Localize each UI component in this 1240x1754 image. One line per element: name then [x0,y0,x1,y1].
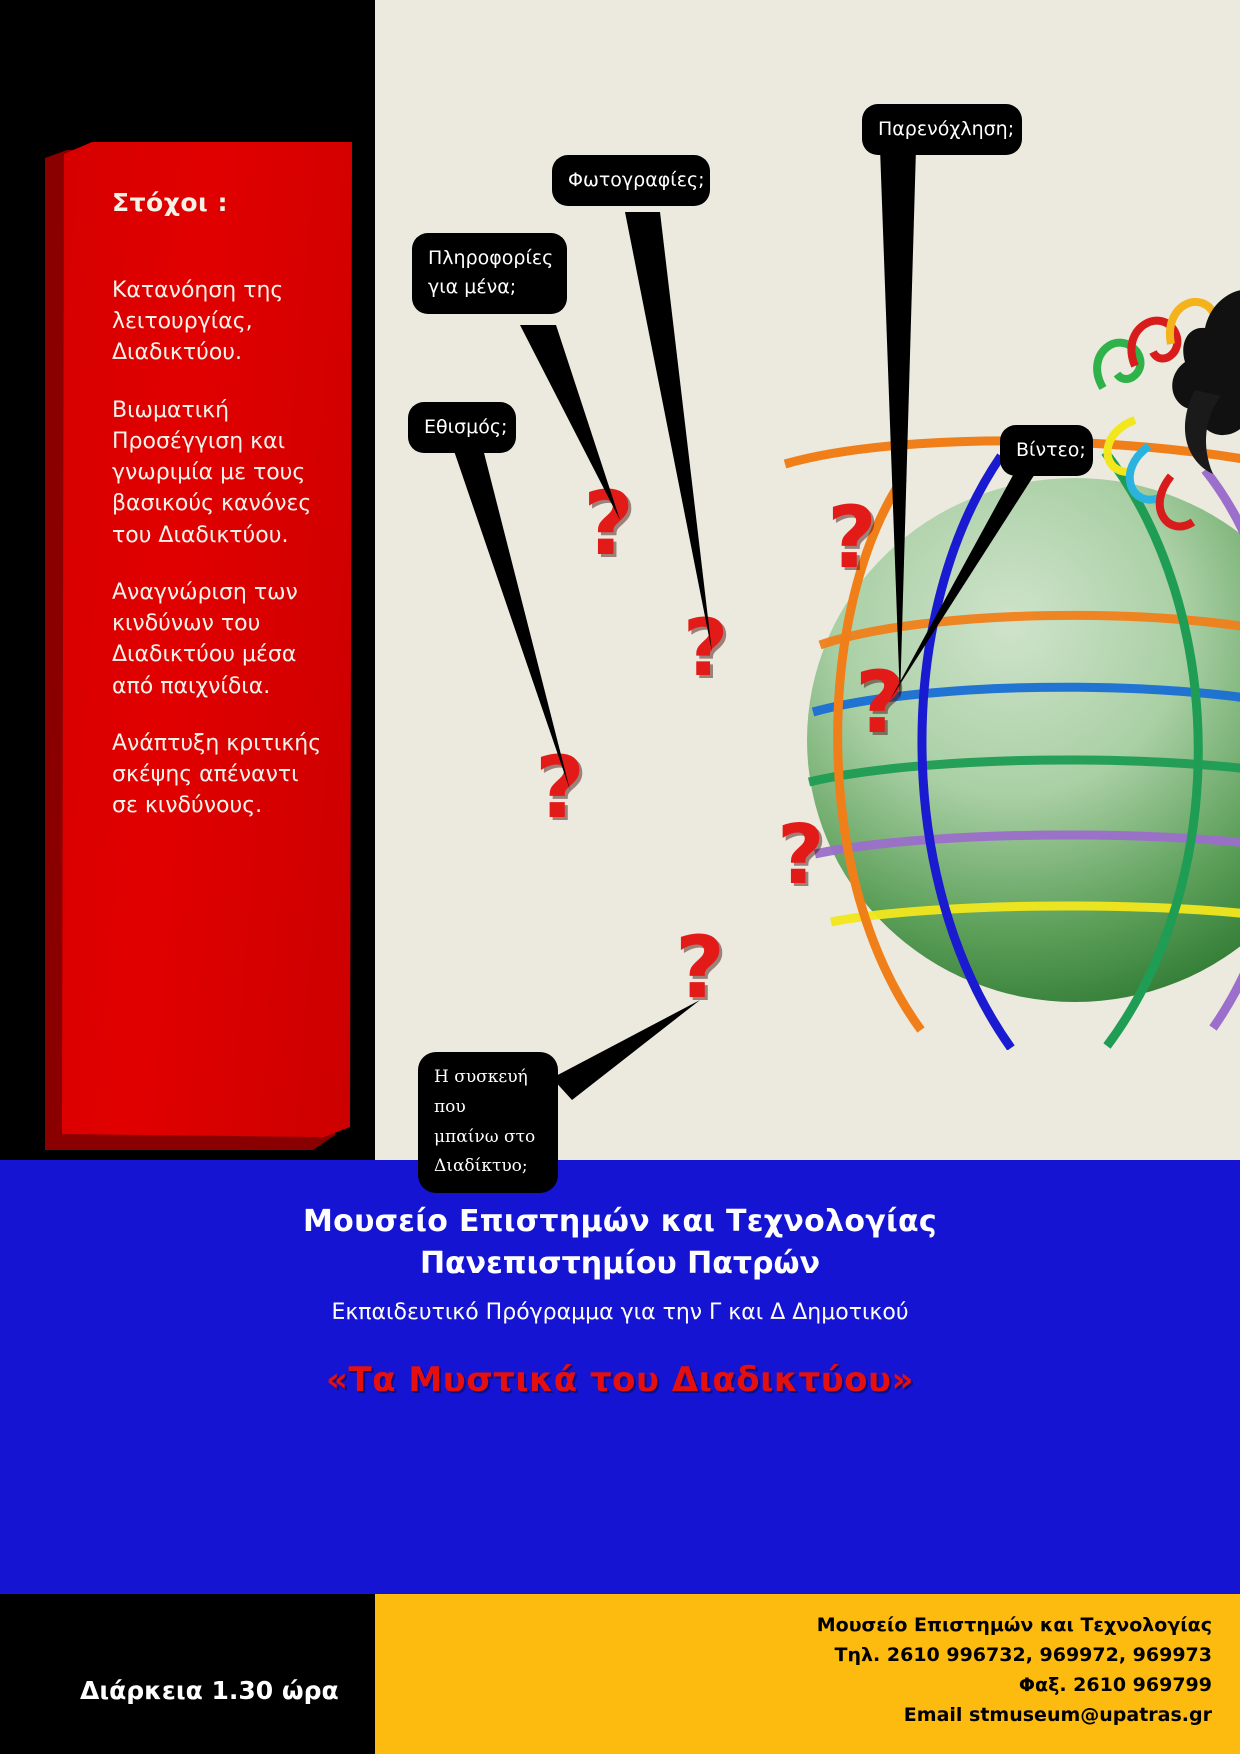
tail-addiction [452,445,570,790]
contact-details: Μουσείο Επιστημών και Τεχνολογίας Τηλ. 2… [817,1610,1212,1730]
organization-line-1: Μουσείο Επιστημών και Τεχνολογίας [0,1204,1240,1239]
contact-line-2: Τηλ. 2610 996732, 969972, 969973 [817,1640,1212,1670]
footer-blue-band: Μουσείο Επιστημών και Τεχνολογίας Πανεπι… [0,1160,1240,1594]
bottom-bar: Διάρκεια 1.30 ώρα Μουσείο Επιστημών και … [0,1594,1240,1754]
program-title: «Τα Μυστικά του Διαδικτύου» [0,1360,1240,1400]
tail-info [520,325,620,520]
tail-photos [625,212,712,652]
bubble-device[interactable]: Η συσκευή που μπαίνω στο Διαδίκτυο; [418,1052,558,1193]
bubble-photos[interactable]: Φωτογραφίες; [552,155,710,206]
bubble-harassment[interactable]: Παρενόχληση; [862,104,1022,155]
duration-label: Διάρκεια 1.30 ώρα [80,1676,339,1705]
program-subtitle: Εκπαιδευτικό Πρόγραμμα για την Γ και Δ Δ… [0,1300,1240,1325]
poster-root: ? ? ? ? ? ? ? Στόχοι : Κατανόηση της λει… [0,0,1240,1754]
poster-stage: ? ? ? ? ? ? ? Στόχοι : Κατανόηση της λει… [0,0,1240,1160]
tail-harassment [880,148,916,700]
bubble-info[interactable]: Πληροφορίες για μένα; [412,233,567,314]
tail-device [552,1000,700,1100]
contact-box: Μουσείο Επιστημών και Τεχνολογίας Τηλ. 2… [375,1594,1240,1754]
contact-line-1: Μουσείο Επιστημών και Τεχνολογίας [817,1610,1212,1640]
bubble-addiction[interactable]: Εθισμός; [408,402,516,453]
contact-line-4: Email stmuseum@upatras.gr [817,1700,1212,1730]
bubble-video[interactable]: Βίντεο; [1000,425,1093,476]
organization-line-2: Πανεπιστημίου Πατρών [0,1246,1240,1281]
contact-line-3: Φαξ. 2610 969799 [817,1670,1212,1700]
tail-video [890,466,1040,700]
